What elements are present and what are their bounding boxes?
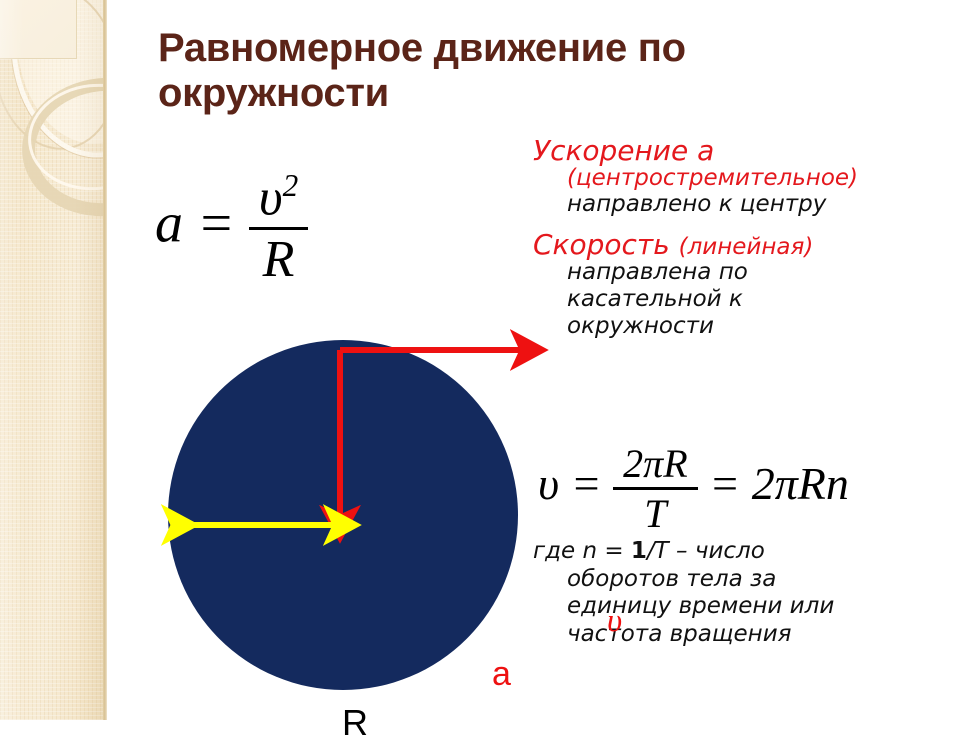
- numerator-symbol: υ: [259, 169, 283, 226]
- velocity-body-line-1: направлена по: [533, 259, 953, 286]
- formula-acceleration-fraction: υ2 R: [249, 168, 308, 289]
- note-mid: /T –: [647, 538, 695, 564]
- note-line-4: частота вращения: [533, 621, 953, 649]
- velocity-lead-word: Скорость: [533, 228, 670, 261]
- numerator-exponent: 2: [283, 168, 299, 203]
- formula-acceleration-equals: =: [197, 193, 235, 255]
- formula-velocity-equals-2: =: [709, 458, 740, 509]
- slide-canvas: Равномерное движение по окружности a = υ…: [0, 0, 960, 720]
- note-block: где n = 1/T – число оборотов тела за еди…: [533, 538, 953, 648]
- velocity-lead: Скорость (линейная): [533, 230, 953, 260]
- velocity-lead-qualifier: (линейная): [679, 234, 814, 260]
- decorative-sidebar: [0, 0, 107, 720]
- formula-acceleration-lhs: a: [155, 193, 183, 255]
- formula-velocity-fraction: 2πR T: [613, 440, 697, 537]
- formula-acceleration-numerator: υ2: [249, 168, 308, 227]
- acceleration-body: направлено к центру: [533, 191, 953, 218]
- explanation-block-velocity: Скорость (линейная) направлена по касате…: [533, 230, 953, 341]
- formula-velocity-denominator: T: [613, 487, 697, 537]
- velocity-label: υ: [607, 605, 622, 638]
- note-first-line: где n = 1/T – число: [533, 538, 953, 566]
- page-title: Равномерное движение по окружности: [158, 26, 858, 116]
- formula-acceleration: a = υ2 R: [155, 168, 308, 289]
- sidebar-edge-line: [103, 0, 107, 720]
- formula-velocity-rhs: 2πRn: [752, 458, 849, 509]
- formula-velocity: υ = 2πR T = 2πRn: [538, 440, 849, 537]
- sidebar-shading: [0, 0, 107, 720]
- formula-velocity-equals: =: [571, 458, 602, 509]
- acceleration-sub: (центростремительное): [533, 166, 953, 192]
- note-line-3: единицу времени или: [533, 593, 953, 621]
- velocity-body-line-3: окружности: [533, 313, 953, 340]
- note-tail: число: [695, 538, 765, 564]
- acceleration-lead: Ускорение a: [533, 136, 953, 166]
- explanation-column: Ускорение a (центростремительное) направ…: [533, 136, 953, 343]
- formula-acceleration-denominator: R: [249, 227, 308, 289]
- velocity-body-line-2: касательной к: [533, 286, 953, 313]
- circular-motion-diagram: R a υ: [140, 300, 560, 720]
- radius-label: R: [342, 705, 368, 741]
- explanation-block-acceleration: Ускорение a (центростремительное) направ…: [533, 136, 953, 219]
- acceleration-label: a: [492, 657, 511, 691]
- formula-velocity-numerator: 2πR: [613, 440, 697, 487]
- note-bold-one: 1: [631, 538, 647, 564]
- note-line-2: оборотов тела за: [533, 566, 953, 594]
